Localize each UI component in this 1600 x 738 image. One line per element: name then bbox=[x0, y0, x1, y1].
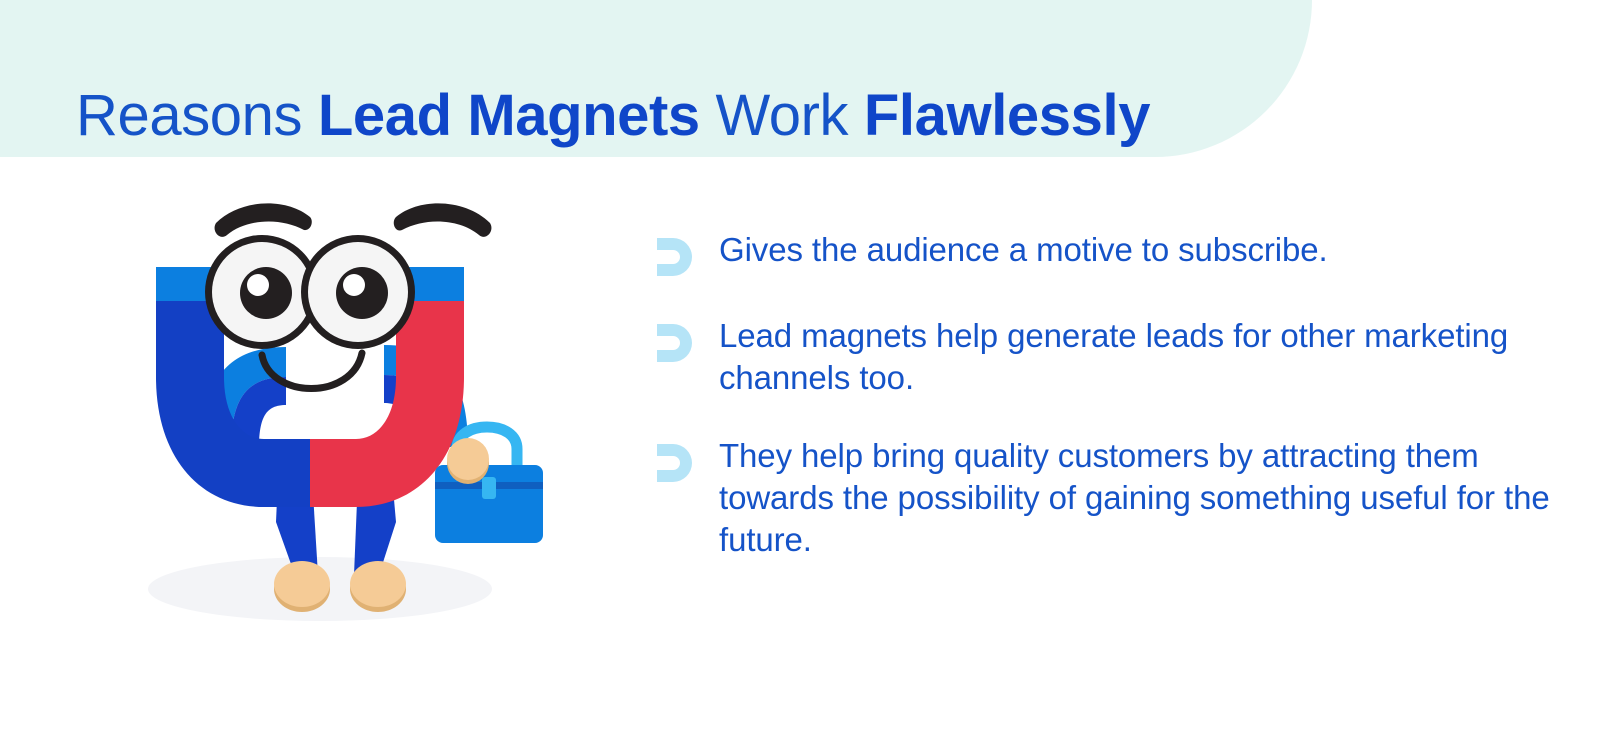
title-part-4: Flawlessly bbox=[864, 83, 1150, 148]
right-eyebrow bbox=[394, 203, 492, 236]
magnet-bullet-icon bbox=[655, 441, 701, 485]
magnet-mascot-illustration bbox=[90, 177, 630, 657]
right-eye-pupil bbox=[336, 267, 388, 319]
magnet-bullet-icon bbox=[655, 321, 701, 365]
title-part-2: Lead Magnets bbox=[318, 83, 700, 148]
left-foot bbox=[274, 561, 330, 607]
reasons-list: Gives the audience a motive to subscribe… bbox=[655, 229, 1555, 561]
left-eye-highlight bbox=[247, 274, 269, 296]
magnet-bullet-icon bbox=[655, 235, 701, 279]
page-title: Reasons Lead Magnets Work Flawlessly bbox=[76, 77, 1150, 155]
infographic-root: Reasons Lead Magnets Work Flawlessly bbox=[0, 0, 1600, 738]
list-item-text: They help bring quality customers by att… bbox=[719, 435, 1555, 561]
main-content: Gives the audience a motive to subscribe… bbox=[0, 157, 1600, 738]
left-eye-pupil bbox=[240, 267, 292, 319]
right-hand bbox=[447, 438, 489, 480]
list-item-text: Gives the audience a motive to subscribe… bbox=[719, 229, 1555, 271]
list-item: Gives the audience a motive to subscribe… bbox=[655, 229, 1555, 279]
title-part-3: Work bbox=[700, 83, 864, 148]
header-banner: Reasons Lead Magnets Work Flawlessly bbox=[0, 0, 1312, 157]
title-part-1: Reasons bbox=[76, 83, 318, 148]
right-eye-highlight bbox=[343, 274, 365, 296]
magnet-mascot-svg bbox=[90, 177, 630, 657]
briefcase-body bbox=[435, 465, 543, 543]
left-eyebrow bbox=[215, 203, 312, 236]
list-item-text: Lead magnets help generate leads for oth… bbox=[719, 315, 1555, 399]
magnet-bottom-right bbox=[310, 439, 356, 507]
list-item: They help bring quality customers by att… bbox=[655, 435, 1555, 561]
magnet-bottom-left bbox=[264, 439, 310, 507]
briefcase-clasp bbox=[482, 477, 496, 499]
list-item: Lead magnets help generate leads for oth… bbox=[655, 315, 1555, 399]
right-foot bbox=[350, 561, 406, 607]
